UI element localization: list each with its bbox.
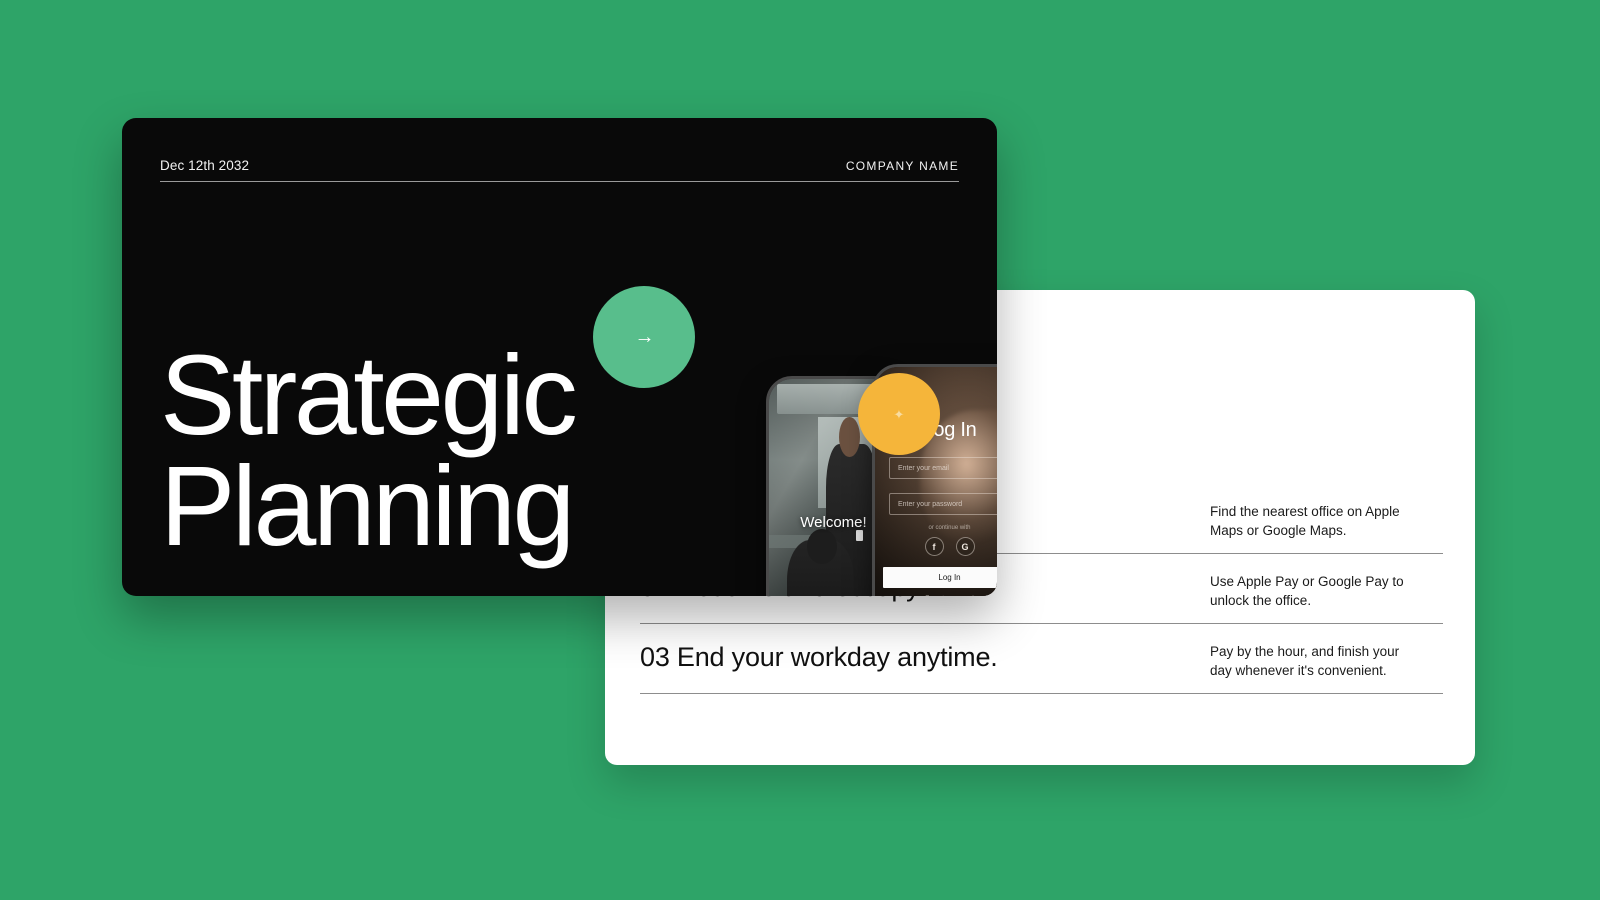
arrow-right-icon: → [635,327,654,347]
password-field[interactable]: Enter your password [889,493,997,515]
step-title: 03 End your workday anytime. [640,642,1200,673]
slide-header: Dec 12th 2032 COMPANY NAME [160,158,959,173]
header-divider [160,181,959,182]
photo-person-seated [787,540,854,596]
row-divider [640,693,1443,694]
step-description: Find the nearest office on Apple Maps or… [1210,502,1410,540]
title-line-2: Planning [160,451,574,562]
sparkle-badge[interactable]: ✦ [858,373,940,455]
social-login-row: f G [875,537,997,556]
facebook-icon[interactable]: f [925,537,944,556]
row-divider [640,623,1443,624]
dark-slide-card[interactable]: Dec 12th 2032 COMPANY NAME Strategic Pla… [122,118,997,596]
next-arrow-button[interactable]: → [593,286,695,388]
google-icon[interactable]: G [956,537,975,556]
title-line-1: Strategic [160,340,574,451]
slide-date: Dec 12th 2032 [160,158,249,173]
list-item[interactable]: 03 End your workday anytime. Pay by the … [640,642,1443,680]
page-title: Strategic Planning [160,340,574,561]
email-field[interactable]: Enter your email [889,457,997,479]
or-continue-label: or continue with [875,525,997,531]
login-button[interactable]: Log In [883,567,997,588]
company-name: COMPANY NAME [846,159,959,173]
presentation-stage: 01 Find and book a space. Find the neare… [0,0,1600,900]
photo-id-badge [856,530,863,541]
forgot-password-link[interactable]: Forgot password [875,595,997,596]
step-description: Pay by the hour, and finish your day whe… [1210,642,1410,680]
step-description: Use Apple Pay or Google Pay to unlock th… [1210,572,1410,610]
sparkle-icon: ✦ [894,408,905,421]
